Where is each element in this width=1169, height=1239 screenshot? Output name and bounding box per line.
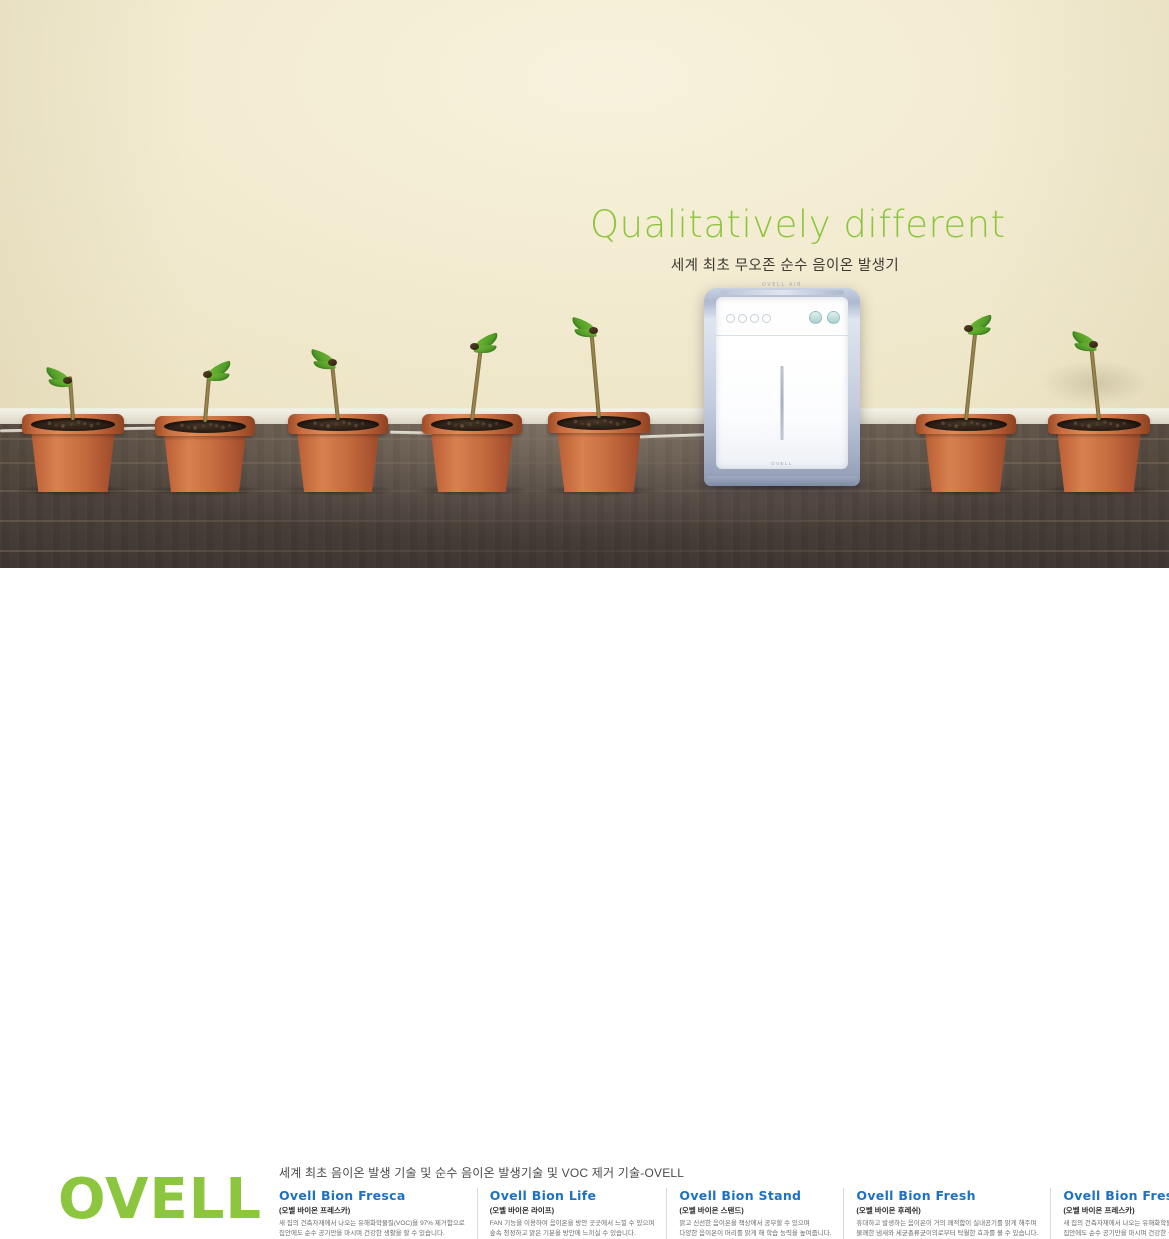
- device-control-panel[interactable]: [716, 297, 848, 336]
- page-title: Qualitatively different: [590, 203, 980, 246]
- product-description-line: 맑고 신선한 음이온을 책상에서 공부할 수 있으며: [679, 1219, 831, 1229]
- air-purifier-device[interactable]: OVELL AIR OVELL: [704, 288, 860, 486]
- plant-stem: [1089, 340, 1101, 420]
- potted-plant: [288, 322, 388, 492]
- product-description-line: 새 집의 건축자재에서 나오는 유해화학물질(VOC)을 97% 제거함으로: [279, 1219, 465, 1229]
- product-description-line: 휴대하고 발생하는 음이온이 거의 쾌적함이 실내공기를 맑게 해주며: [856, 1219, 1038, 1229]
- product-name: Ovell Bion Fresca: [1063, 1188, 1169, 1203]
- product-description-line: 집안에도 순수 공기만을 마시며 건강한 생활을 할 수 있습니다.: [279, 1229, 465, 1239]
- potted-plant: [548, 290, 650, 492]
- product-description-line: 집안에도 순수 공기만을 마시며 건강한 생활을 할 수 있습니다.: [1063, 1229, 1169, 1239]
- flower-pot: [916, 414, 1016, 492]
- hero-image: Qualitatively different 세계 최초 무오존 순수 음이온…: [0, 0, 1169, 568]
- product-card[interactable]: Ovell Bion Fresca(오벨 바이온 프레스카)새 집의 건축자재에…: [1050, 1188, 1169, 1239]
- product-name: Ovell Bion Life: [490, 1188, 655, 1203]
- product-description-line: 다양한 음이온이 머리를 맑게 해 학습 능력을 높여줍니다.: [679, 1229, 831, 1239]
- flower-pot: [1048, 414, 1150, 492]
- product-name-korean: (오벨 바이온 프레스카): [279, 1205, 465, 1216]
- power-button[interactable]: [827, 311, 840, 324]
- brand-logo: OVELL: [58, 1172, 262, 1228]
- plant-stem: [470, 342, 483, 420]
- device-front-logo: OVELL: [704, 461, 860, 466]
- product-name-korean: (오벨 바이온 스탠드): [679, 1205, 831, 1216]
- potted-plant: [916, 288, 1016, 492]
- product-name-korean: (오벨 바이온 프레스카): [1063, 1205, 1169, 1216]
- product-description: FAN 기능을 이용하여 음이온을 방안 곳곳에서 느낄 수 있으며숲속 청정하…: [490, 1219, 655, 1239]
- product-card[interactable]: Ovell Bion Life(오벨 바이온 라이프)FAN 기능을 이용하여 …: [477, 1188, 667, 1239]
- seed-cap: [589, 327, 598, 334]
- seed-cap: [1089, 341, 1098, 348]
- device-top-strip: [720, 290, 844, 295]
- footer-tagline: 세계 최초 음이온 발생 기술 및 순수 음이온 발생기술 및 VOC 제거 기…: [279, 1164, 684, 1181]
- product-description-line: 불쾌한 냄새와 세균총류균이의로부터 탁월한 효과를 볼 수 있습니다.: [856, 1229, 1038, 1239]
- soil-texture: [557, 416, 641, 430]
- product-card[interactable]: Ovell Bion Fresca(오벨 바이온 프레스카)새 집의 건축자재에…: [279, 1188, 477, 1239]
- advertisement-page: Qualitatively different 세계 최초 무오존 순수 음이온…: [0, 0, 1169, 689]
- product-name: Ovell Bion Fresh: [856, 1188, 1038, 1203]
- device-vent-icon: [777, 469, 787, 473]
- seed-cap: [203, 371, 212, 378]
- product-description-line: 숲속 청정하고 맑은 기분을 방안에 느끼실 수 있습니다.: [490, 1229, 655, 1239]
- footer-bar: OVELL 세계 최초 음이온 발생 기술 및 순수 음이온 발생기술 및 VO…: [0, 568, 1169, 689]
- product-name: Ovell Bion Fresca: [279, 1188, 465, 1203]
- plant-stem: [964, 324, 978, 420]
- product-card[interactable]: Ovell Bion Fresh(오벨 바이온 후레쉬)휴대하고 발생하는 음이…: [843, 1188, 1050, 1239]
- device-base: [707, 476, 857, 486]
- product-description: 새 집의 건축자재에서 나오는 유해화학물질(VOC)을 97% 제거함으로집안…: [1063, 1219, 1169, 1239]
- filter-indicator-icon: [762, 314, 771, 323]
- flower-pot: [548, 412, 650, 492]
- product-name-korean: (오벨 바이온 후레쉬): [856, 1205, 1038, 1216]
- plant-stem: [589, 326, 601, 418]
- product-description: 새 집의 건축자재에서 나오는 유해화학물질(VOC)을 97% 제거함으로집안…: [279, 1219, 465, 1239]
- product-description: 휴대하고 발생하는 음이온이 거의 쾌적함이 실내공기를 맑게 해주며불쾌한 냄…: [856, 1219, 1038, 1239]
- fan-indicator-icon: [750, 314, 759, 323]
- soil: [557, 416, 641, 430]
- product-card[interactable]: Ovell Bion Stand(오벨 바이온 스탠드)맑고 신선한 음이온을 …: [666, 1188, 843, 1239]
- device-brand-label: OVELL AIR: [704, 282, 860, 288]
- potted-plant: [1048, 304, 1150, 492]
- seed-cap: [964, 325, 973, 332]
- power-indicator-icon: [726, 314, 735, 323]
- product-description-line: 새 집의 건축자재에서 나오는 유해화학물질(VOC)을 97% 제거함으로: [1063, 1219, 1169, 1229]
- flower-pot: [288, 414, 388, 492]
- product-description: 맑고 신선한 음이온을 책상에서 공부할 수 있으며다양한 음이온이 머리를 맑…: [679, 1219, 831, 1239]
- product-card-list: Ovell Bion Fresca(오벨 바이온 프레스카)새 집의 건축자재에…: [279, 1188, 1139, 1239]
- product-description-line: FAN 기능을 이용하여 음이온을 방안 곳곳에서 느낄 수 있으며: [490, 1219, 655, 1229]
- page-subtitle: 세계 최초 무오존 순수 음이온 발생기: [590, 254, 980, 275]
- product-name: Ovell Bion Stand: [679, 1188, 831, 1203]
- potted-plant: [22, 340, 124, 492]
- flower-pot: [22, 414, 124, 492]
- potted-plant: [422, 306, 522, 492]
- seed-cap: [63, 377, 72, 384]
- flower-pot: [155, 416, 255, 492]
- flower-pot: [422, 414, 522, 492]
- seed-cap: [470, 343, 479, 350]
- seed-cap: [328, 359, 337, 366]
- device-air-slot: [781, 366, 784, 440]
- potted-plant: [155, 334, 255, 492]
- ion-indicator-icon: [738, 314, 747, 323]
- mode-button[interactable]: [809, 311, 822, 324]
- product-name-korean: (오벨 바이온 라이프): [490, 1205, 655, 1216]
